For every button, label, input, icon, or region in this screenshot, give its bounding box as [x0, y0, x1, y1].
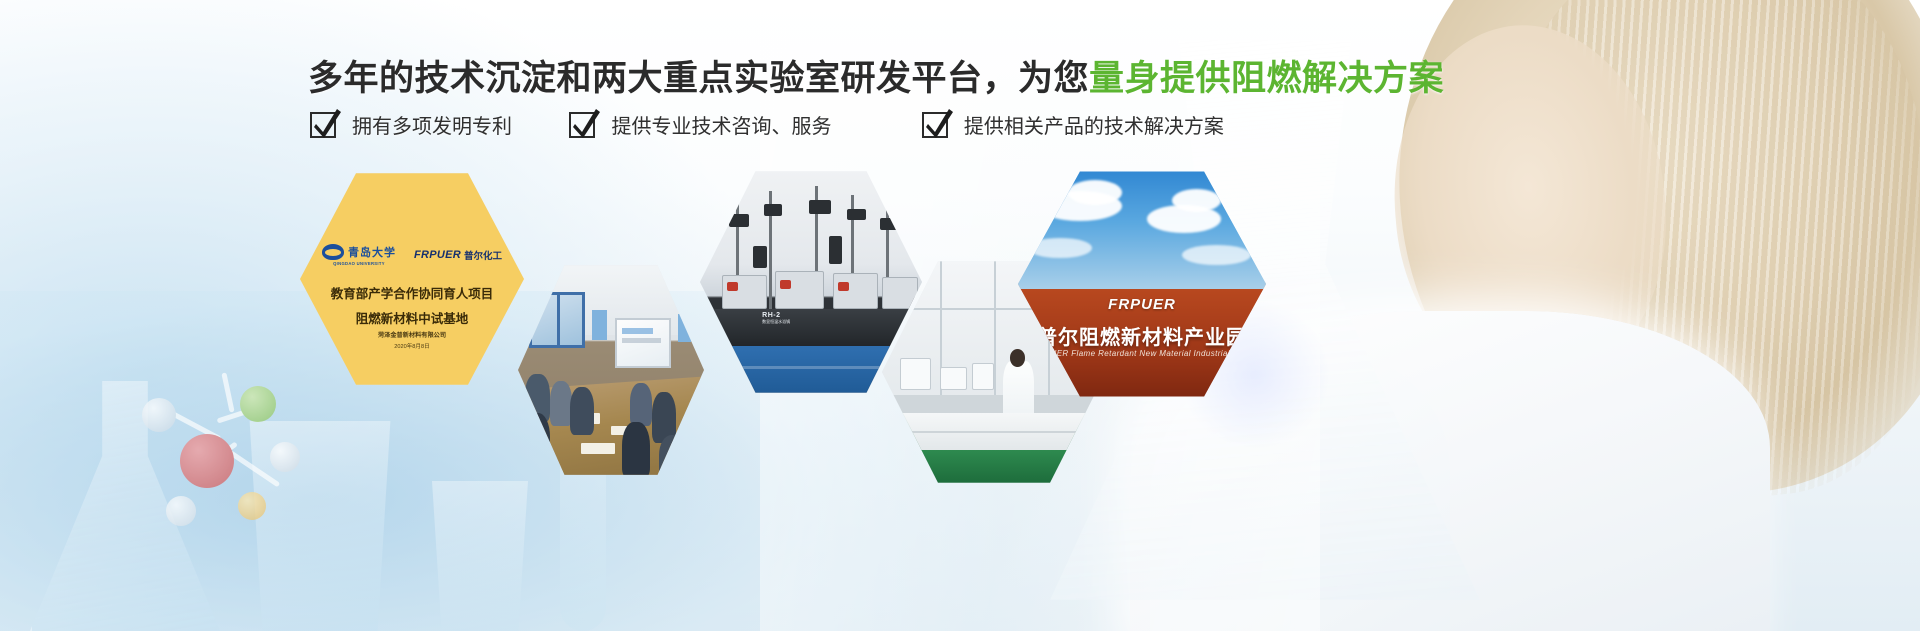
university-emblem-icon	[322, 244, 344, 260]
certificate-line-3: 菏泽金普新材料有限公司	[300, 330, 524, 339]
company-name-en: FRPUER	[414, 249, 461, 261]
certificate-line-2: 阻燃新材料中试基地	[300, 308, 524, 327]
certificate-line-4: 2020年8月8日	[300, 342, 524, 350]
hexagon-certificate-plaque[interactable]: 青岛大学 QINGDAO UNIVERSITY FRPUER 普尔化工 教育部产…	[300, 170, 524, 388]
certificate-line-1: 教育部产学合作协同育人项目	[300, 283, 524, 302]
equipment-description: 数显恒温水浴锅	[762, 319, 790, 325]
certificate-line-1-text: 教育部产学合作协同育人项目	[331, 283, 494, 302]
certificate-logos: 青岛大学 QINGDAO UNIVERSITY FRPUER 普尔化工	[300, 244, 524, 266]
hexagon-meeting-room-photo[interactable]	[518, 262, 704, 478]
university-name-en: QINGDAO UNIVERSITY	[333, 261, 385, 266]
park-sign-logo: FRPUER	[1018, 296, 1266, 313]
university-name-cn: 青岛大学	[348, 244, 396, 260]
certificate-background: 青岛大学 QINGDAO UNIVERSITY FRPUER 普尔化工 教育部产…	[300, 170, 524, 388]
equipment-model: RH-2	[762, 312, 780, 319]
company-name-cn: 普尔化工	[464, 248, 502, 262]
hexagon-gallery: 青岛大学 QINGDAO UNIVERSITY FRPUER 普尔化工 教育部产…	[0, 0, 1920, 631]
park-sign-cn: 普尔阻燃新材料产业园	[1018, 321, 1266, 350]
equipment-label: RH-2 数显恒温水浴锅	[762, 312, 790, 325]
qingdao-university-logo: 青岛大学 QINGDAO UNIVERSITY	[322, 244, 396, 266]
frpuer-logo: FRPUER 普尔化工	[414, 248, 502, 262]
meeting-room-image	[518, 262, 704, 478]
